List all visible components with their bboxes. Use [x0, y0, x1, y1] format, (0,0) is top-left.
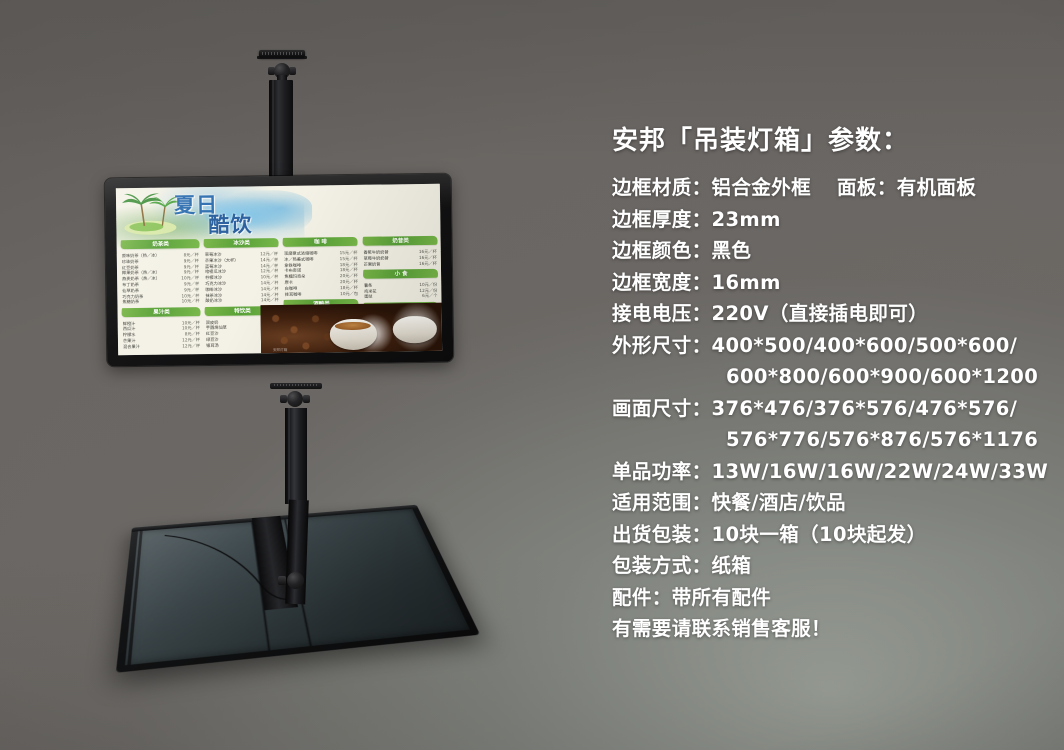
menu-item-name: 珍珠奶茶 — [122, 259, 139, 264]
menu-item-name: 草莓冰沙 — [205, 252, 222, 257]
spec-line: 适用范围：快餐/酒店/饮品 — [612, 487, 1036, 519]
menu-item-price: 8元／杯 — [181, 252, 199, 257]
joint-bolt-left — [278, 576, 286, 585]
menu-item-name: 现磨意式浓缩咖啡 — [284, 250, 318, 256]
menu-section-label: 小 食 — [394, 271, 407, 277]
menu-section-label: 奶昔类 — [392, 238, 409, 244]
menu-item-price: 10元／杯 — [179, 298, 200, 303]
menu-item-price: 20元／杯 — [337, 273, 358, 278]
menu-item-name: 焦糖奶茶 — [122, 299, 139, 304]
menu-item-name: 西瓜汁 — [123, 326, 136, 331]
lightbox-screen: 夏日 酷饮 奶茶类原味奶茶（热／冰）8元／杯珍珠奶茶9元／杯红豆奶茶9元／杯椰果… — [116, 184, 442, 356]
spec-line-continuation: 576*776/576*876/576*1176 — [612, 424, 1036, 456]
menu-item-row: 挂耳咖啡10元／包 — [285, 290, 358, 296]
menu-item-name: 拿铁咖啡 — [284, 262, 301, 267]
spec-line: 配件：带所有配件 — [612, 582, 1036, 614]
menu-item-price: 14元／杯 — [257, 263, 278, 268]
menu-section-label: 奶茶类 — [152, 241, 169, 247]
menu-item-name: 冰／热美式咖啡 — [284, 256, 313, 262]
menu-item-name: 红豆沙 — [206, 331, 219, 336]
menu-item-name: 芒果奶昔 — [364, 261, 381, 266]
menu-item-price: 10元／杯 — [179, 320, 200, 325]
menu-item-price: 12元／杯 — [179, 343, 200, 348]
menu-item-name: 卡布奇诺 — [284, 268, 301, 273]
joint-bolt-right — [303, 395, 310, 403]
menu-item-price: 16元／杯 — [416, 249, 437, 254]
spec-line: 包装方式：纸箱 — [612, 550, 1036, 582]
mount-pole-middle — [285, 408, 307, 504]
menu-item-price: 14元／杯 — [258, 286, 279, 291]
menu-artwork: 夏日 酷饮 奶茶类原味奶茶（热／冰）8元／杯珍珠奶茶9元／杯红豆奶茶9元／杯椰果… — [116, 184, 442, 356]
menu-item-row: 混合果汁12元／杯 — [123, 343, 200, 349]
menu-item-name: 红豆奶茶 — [122, 265, 139, 270]
spec-footer: 有需要请联系销售客服！ — [612, 613, 1036, 645]
spec-line: 接电电压：220V（直接插电即可） — [612, 298, 1036, 330]
menu-item-row: 酸奶冰沙14元／杯 — [205, 297, 278, 303]
product-spec-image: 夏日 酷饮 奶茶类原味奶茶（热／冰）8元／杯珍珠奶茶9元／杯红豆奶茶9元／杯椰果… — [0, 0, 1064, 750]
menu-section-label: 咖 啡 — [314, 239, 327, 245]
menu-item-price: 12元／份 — [416, 287, 437, 292]
menu-item-list: 香蕉牛奶奶昔16元／杯草莓牛奶奶昔16元／杯芒果奶昔16元／杯 — [362, 249, 438, 267]
menu-item-name: 银耳汤 — [206, 343, 219, 348]
menu-item-name: 蛋挞 — [364, 294, 372, 299]
joint-bolt-left — [280, 395, 287, 403]
lightbox-panel-front: 夏日 酷饮 奶茶类原味奶茶（热／冰）8元／杯珍珠奶茶9元／杯红豆奶茶9元／杯椰果… — [105, 174, 454, 367]
menu-item-price: 12元／杯 — [257, 251, 278, 256]
spec-title: 安邦「吊装灯箱」参数： — [612, 126, 1036, 156]
coffee-cup-back — [393, 316, 437, 344]
menu-item-price: 15元／杯 — [337, 256, 358, 261]
menu-item-price: 9元／杯 — [181, 258, 199, 263]
coffee-cup-front — [329, 319, 377, 351]
menu-item-price: 9元／杯 — [181, 264, 199, 269]
menu-item-row: 焦糖奶茶10元／杯 — [122, 298, 199, 304]
menu-item-price: 10元／杯 — [178, 275, 199, 280]
menu-item-price: 14元／杯 — [257, 257, 278, 262]
spec-line: 边框材质：铝合金外框面板：有机面板 — [612, 172, 1036, 204]
menu-section-header: 果汁类 — [121, 307, 201, 317]
menu-item-name: 抹茶冰沙 — [205, 292, 222, 297]
menu-item-list: 现磨意式浓缩咖啡15元／杯冰／热美式咖啡15元／杯拿铁咖啡18元／杯卡布奇诺18… — [283, 250, 359, 297]
menu-item-name: 咖啡冰沙 — [205, 287, 222, 292]
swivel-joint-lower — [278, 568, 312, 594]
menu-item-price: 8元／杯 — [182, 331, 200, 336]
menu-item-name: 仙草奶茶 — [122, 288, 139, 293]
menu-item-price: 20元／杯 — [337, 279, 358, 284]
menu-item-name: 蓝莓冰沙 — [205, 263, 222, 268]
menu-item-name: 哈密瓜冰沙 — [205, 269, 226, 274]
menu-item-price: 10元／杯 — [179, 325, 200, 330]
menu-item-name: 芋圆烧仙草 — [206, 325, 227, 330]
menu-section-header: 冰沙类 — [203, 238, 279, 248]
mount-pole-upper — [269, 80, 293, 184]
spec-line: 画面尺寸：376*476/376*576/476*576/ — [612, 393, 1036, 425]
menu-item-name: 混合果汁 — [123, 344, 140, 349]
menu-item-price: 15元／杯 — [337, 250, 358, 255]
menu-section-label: 果汁类 — [153, 309, 170, 315]
specification-block: 安邦「吊装灯箱」参数： 边框材质：铝合金外框面板：有机面板边框厚度：23mm边框… — [612, 126, 1036, 645]
menu-item-name: 双皮奶 — [206, 319, 219, 324]
menu-item-name: 芒果汁 — [123, 338, 136, 343]
menu-item-price: 14元／杯 — [258, 297, 279, 302]
spec-line: 外形尺寸：400*500/400*600/500*600/ — [612, 330, 1036, 362]
menu-item-name: 摩卡 — [285, 280, 293, 285]
menu-item-name: 巧克力奶茶 — [122, 293, 143, 298]
menu-title: 夏日 酷饮 — [174, 191, 325, 241]
menu-item-name: 芒果冰沙（大杯） — [205, 257, 239, 263]
menu-item-name: 挂耳咖啡 — [285, 291, 302, 296]
spec-line: 边框颜色：黑色 — [612, 235, 1036, 267]
menu-item-price: 6元／个 — [419, 293, 437, 298]
menu-item-name: 鲜橙汁 — [123, 321, 136, 326]
menu-item-name: 鸡米花 — [364, 288, 377, 293]
menu-item-price: 18元／杯 — [337, 261, 358, 266]
menu-item-list: 原味奶茶（热／冰）8元／杯珍珠奶茶9元／杯红豆奶茶9元／杯椰果奶茶（热／冰）9元… — [121, 252, 201, 305]
menu-item-name: 酸奶冰沙 — [205, 298, 222, 303]
menu-item-price: 18元／杯 — [337, 285, 358, 290]
spec-line: 边框厚度：23mm — [612, 204, 1036, 236]
menu-item-price: 14元／杯 — [258, 280, 279, 285]
menu-item-price: 18元／杯 — [337, 267, 358, 272]
spec-line: 单品功率：13W/16W/16W/22W/24W/33W — [612, 456, 1036, 488]
ceiling-plate-lip — [257, 56, 307, 59]
menu-item-price: 10元／份 — [416, 282, 437, 287]
spec-line-continuation: 600*800/600*900/600*1200 — [612, 361, 1036, 393]
menu-item-name: 布丁奶茶 — [122, 282, 139, 287]
menu-item-name: 柠檬冰沙 — [205, 275, 222, 280]
menu-section-header: 咖 啡 — [283, 237, 359, 247]
menu-item-name: 白咖啡 — [285, 286, 298, 291]
menu-item-name: 香蕉牛奶奶昔 — [363, 249, 388, 255]
joint-ball — [287, 572, 304, 589]
menu-item-price: 16元／杯 — [416, 260, 437, 265]
menu-item-name: 绿豆沙 — [206, 337, 219, 342]
joint-bolt-right — [289, 67, 296, 75]
menu-item-name: 草莓牛奶奶昔 — [364, 255, 389, 261]
menu-section-label: 冰沙类 — [233, 240, 250, 246]
menu-item-price: 9元／杯 — [181, 270, 199, 275]
spec-line: 出货包装：10块一箱（10块起发） — [612, 519, 1036, 551]
menu-item-name: 巧克力冰沙 — [205, 281, 226, 286]
menu-item-list: 草莓冰沙12元／杯芒果冰沙（大杯）14元／杯蓝莓冰沙14元／杯哈密瓜冰沙12元／… — [204, 251, 280, 304]
menu-section-label: 特饮类 — [234, 307, 251, 313]
menu-item-row: 芒果奶昔16元／杯 — [364, 260, 437, 266]
menu-item-name: 薯条 — [364, 282, 372, 287]
menu-title-line-2: 酷饮 — [208, 214, 252, 236]
spec-line-list: 边框材质：铝合金外框面板：有机面板边框厚度：23mm边框颜色：黑色边框宽度：16… — [612, 172, 1036, 613]
menu-item-price: 9元／杯 — [181, 281, 199, 286]
menu-item-price: 16元／杯 — [416, 255, 437, 260]
menu-item-name: 焦糖玛奇朵 — [284, 274, 305, 279]
joint-ball — [287, 391, 303, 407]
menu-item-price: 12元／杯 — [257, 268, 278, 273]
menu-section-header: 小 食 — [363, 269, 439, 279]
menu-section-header: 奶昔类 — [362, 236, 438, 246]
menu-item-list: 薯条10元／份鸡米花12元／份蛋挞6元／个 — [363, 282, 439, 300]
menu-item-price: 10元／杯 — [258, 274, 279, 279]
menu-item-price: 14元／杯 — [258, 292, 279, 297]
menu-column: 奶茶类原味奶茶（热／冰）8元／杯珍珠奶茶9元／杯红豆奶茶9元／杯椰果奶茶（热／冰… — [121, 239, 202, 353]
spec-line: 边框宽度：16mm — [612, 267, 1036, 299]
menu-section-header: 奶茶类 — [120, 239, 200, 249]
menu-item-price: 10元／包 — [337, 290, 358, 295]
menu-item-price: 9元／杯 — [181, 287, 199, 292]
menu-item-price: 12元／杯 — [179, 337, 200, 342]
menu-item-name: 柠檬水 — [123, 332, 136, 337]
menu-item-row: 蛋挞6元／个 — [364, 293, 437, 299]
menu-item-price: 10元／杯 — [178, 293, 199, 298]
menu-item-list: 鲜橙汁10元／杯西瓜汁10元／杯柠檬水8元／杯芒果汁12元／杯混合果汁12元／杯 — [122, 320, 201, 349]
coffee-photo — [260, 302, 442, 353]
menu-watermark: 安邦灯箱 — [273, 347, 287, 352]
